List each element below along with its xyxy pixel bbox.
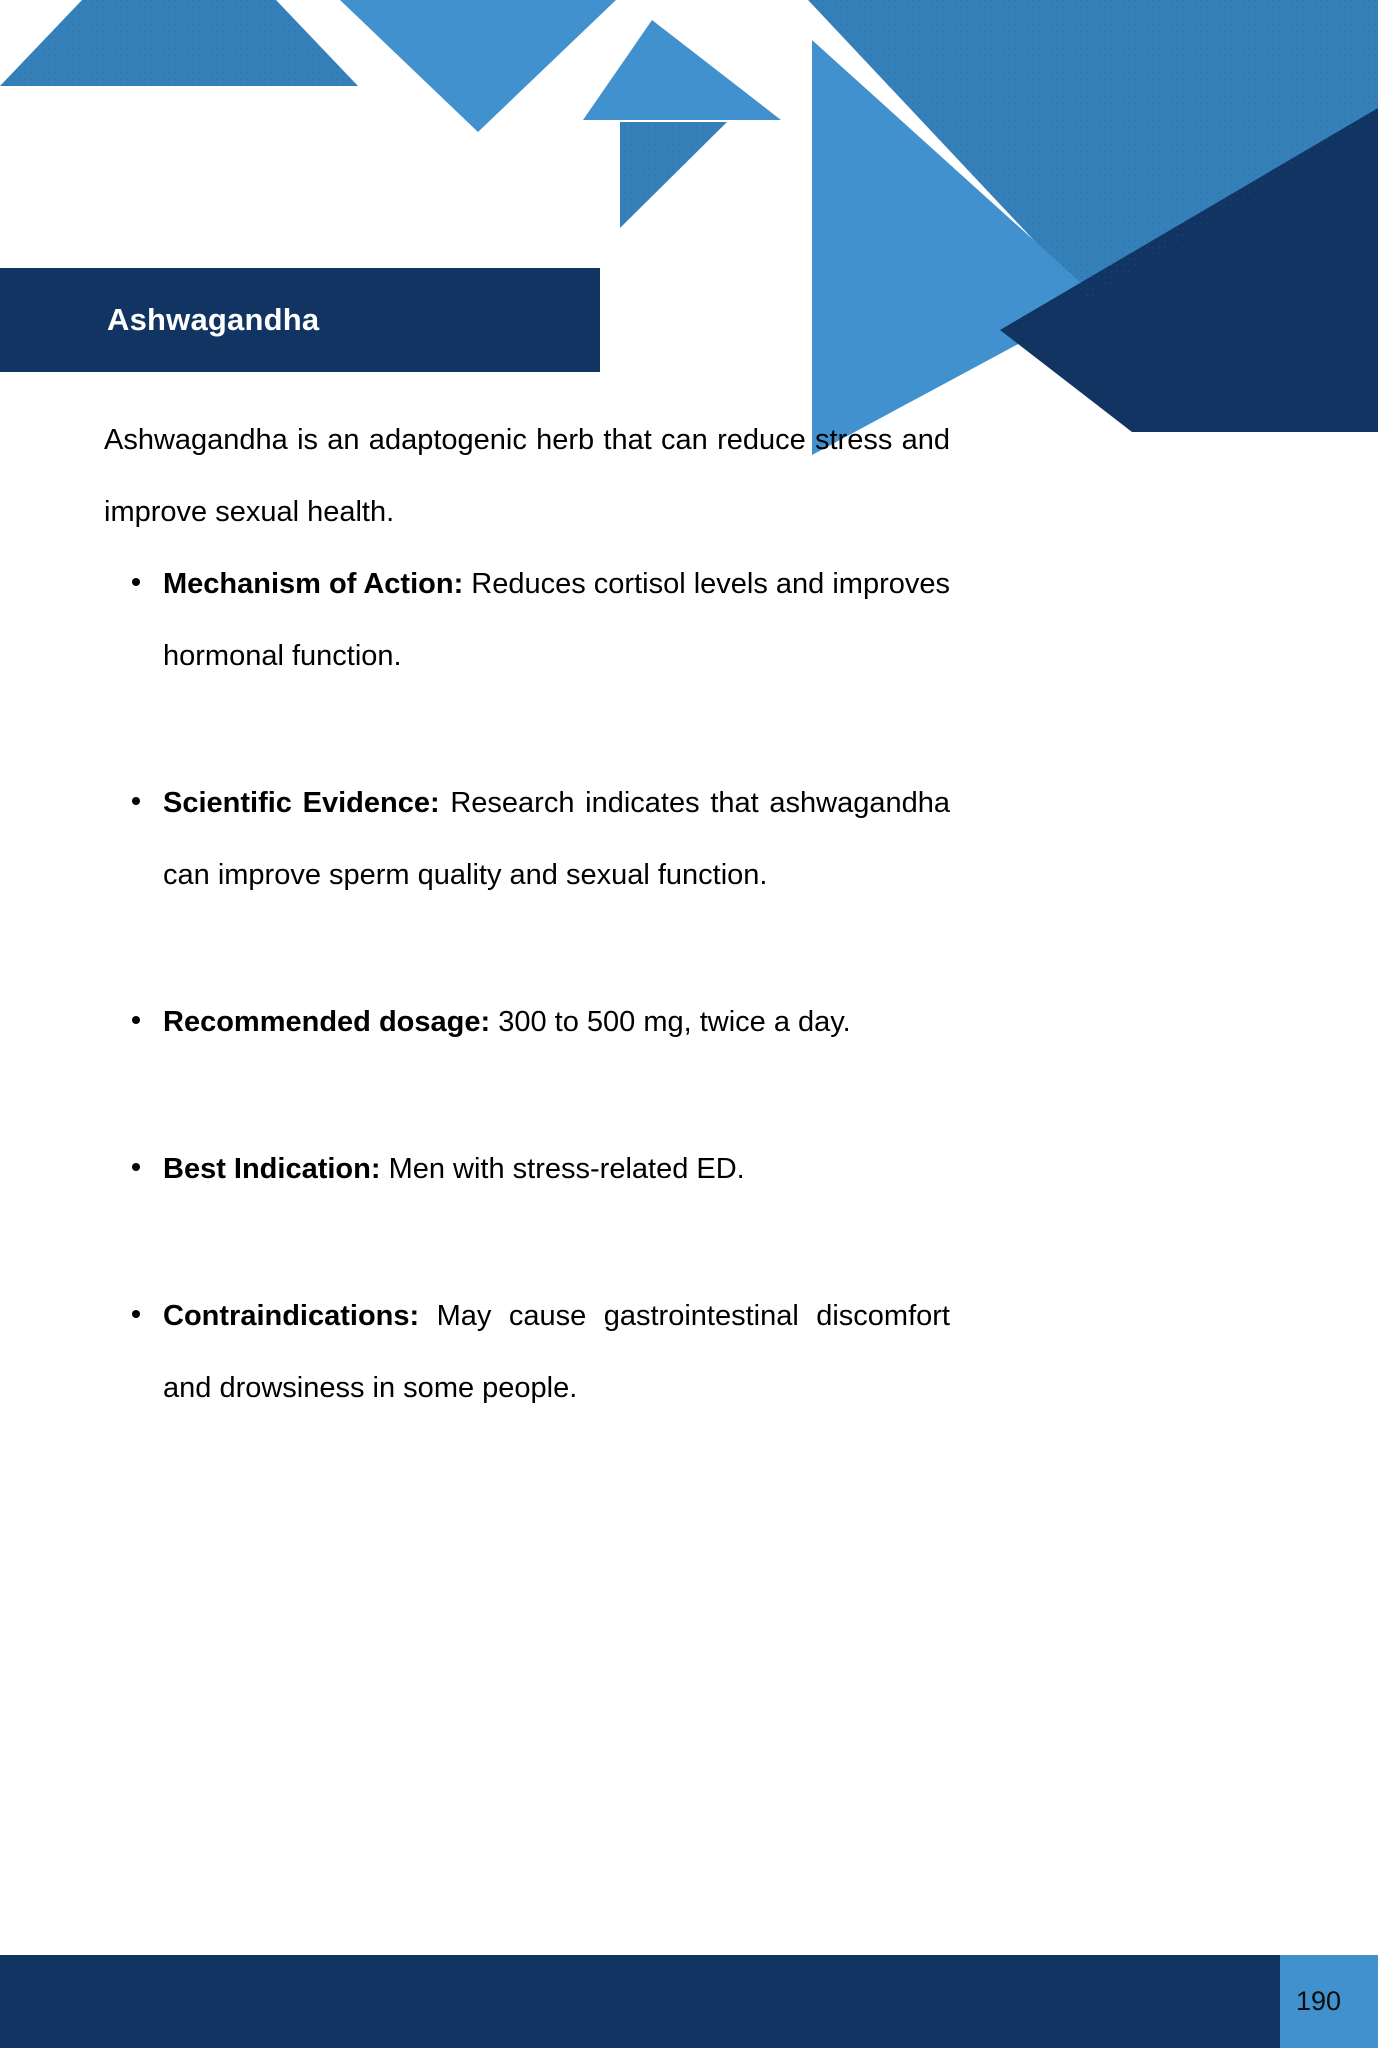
footer-bar bbox=[0, 1955, 1378, 2048]
bullet-lead: Contraindications: bbox=[163, 1300, 419, 1332]
page-title: Ashwagandha bbox=[107, 302, 319, 338]
bullet-lead: Mechanism of Action: bbox=[163, 568, 463, 600]
intro-paragraph: Ashwagandha is an adaptogenic herb that … bbox=[104, 404, 950, 548]
shape-triangle-right-small-texture bbox=[620, 122, 727, 228]
list-item: Best Indication: Men with stress-related… bbox=[104, 1133, 950, 1205]
shape-trapezoid-left bbox=[0, 0, 358, 86]
bullet-dot-icon bbox=[132, 797, 140, 805]
shape-triangle-up-small bbox=[583, 20, 781, 120]
bullet-body: Men with stress-related ED. bbox=[381, 1153, 745, 1185]
list-item: Mechanism of Action: Reduces cortisol le… bbox=[104, 548, 950, 692]
shape-triangle-big-dotted-right-texture bbox=[808, 0, 1378, 300]
shape-chevron-light-blue bbox=[812, 40, 1100, 455]
bullet-dot-icon bbox=[132, 1163, 140, 1171]
list-item: Contraindications: May cause gastrointes… bbox=[104, 1280, 950, 1424]
bullet-dot-icon bbox=[132, 578, 140, 586]
bullet-dot-icon bbox=[132, 1016, 140, 1024]
shape-wedge-deep-navy bbox=[1000, 108, 1378, 432]
list-item: Recommended dosage: 300 to 500 mg, twice… bbox=[104, 986, 950, 1058]
list-item: Scientific Evidence: Research indicates … bbox=[104, 767, 950, 911]
bullet-dot-icon bbox=[132, 1310, 140, 1318]
shape-trapezoid-left-texture bbox=[0, 0, 358, 86]
bullet-list: Mechanism of Action: Reduces cortisol le… bbox=[104, 548, 950, 1424]
shape-triangle-right-small bbox=[620, 122, 727, 228]
slide-title-bar: Ashwagandha bbox=[0, 268, 600, 372]
bullet-lead: Recommended dosage: bbox=[163, 1006, 490, 1038]
page-number-block: 190 bbox=[1280, 1955, 1378, 2048]
shape-triangle-big-dotted-right bbox=[808, 0, 1378, 300]
slide-content: Ashwagandha is an adaptogenic herb that … bbox=[104, 404, 950, 1424]
bullet-lead: Scientific Evidence: bbox=[163, 787, 440, 819]
bullet-body: 300 to 500 mg, twice a day. bbox=[490, 1006, 851, 1038]
shape-triangle-down-upper-left bbox=[340, 0, 616, 132]
page-number: 190 bbox=[1296, 1988, 1341, 2015]
bullet-lead: Best Indication: bbox=[163, 1153, 381, 1185]
